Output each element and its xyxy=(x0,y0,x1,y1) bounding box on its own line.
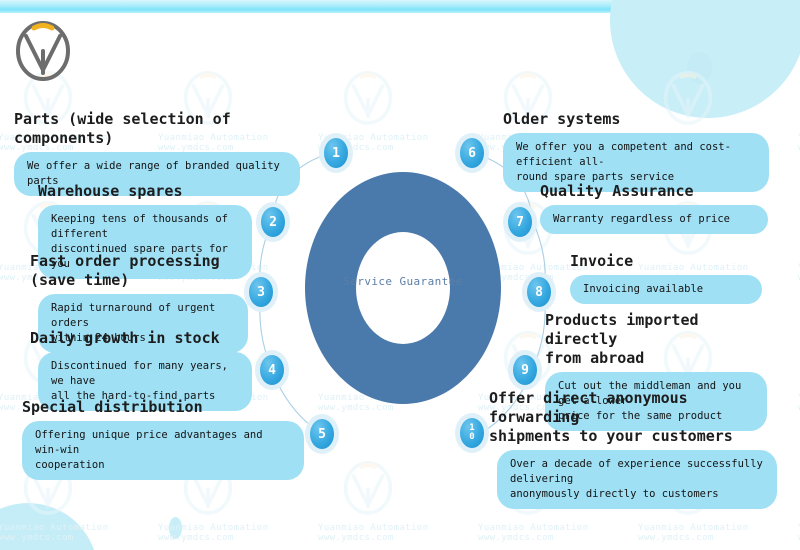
item-8: Invoice Invoicing available xyxy=(570,252,762,304)
item-6: Older systems We offer you a competent a… xyxy=(503,110,769,192)
step-badge-4[interactable]: 4 xyxy=(255,350,289,390)
center-label: Service Guarantee xyxy=(305,275,501,288)
item-10: Offer direct anonymous forwarding shipme… xyxy=(489,389,769,509)
item-7-heading: Quality Assurance xyxy=(540,182,768,201)
step-badge-8[interactable]: 8 xyxy=(522,272,556,312)
infographic-canvas: Yuanmiao Automationwww.ymdcs.comYuanmiao… xyxy=(0,0,800,550)
step-badge-7[interactable]: 7 xyxy=(503,202,537,242)
item-5-body: Offering unique price advantages and win… xyxy=(22,421,304,480)
item-10-body: Over a decade of experience successfully… xyxy=(497,450,777,509)
step-badge-5-number: 5 xyxy=(310,419,334,449)
item-6-heading: Older systems xyxy=(503,110,769,129)
item-4-heading: Daily growth in stock xyxy=(30,329,244,348)
item-8-body: Invoicing available xyxy=(570,275,762,304)
step-badge-3-number: 3 xyxy=(249,277,273,307)
item-2-heading: Warehouse spares xyxy=(38,182,252,201)
item-5: Special distribution Offering unique pri… xyxy=(22,398,304,480)
center-donut: Service Guarantee xyxy=(305,172,501,404)
step-badge-7-number: 7 xyxy=(508,207,532,237)
step-badge-9[interactable]: 9 xyxy=(508,350,542,390)
step-badge-2-number: 2 xyxy=(261,207,285,237)
step-badge-10[interactable]: 10 xyxy=(455,413,489,453)
step-badge-4-number: 4 xyxy=(260,355,284,385)
item-5-heading: Special distribution xyxy=(22,398,304,417)
item-10-heading: Offer direct anonymous forwarding shipme… xyxy=(489,389,769,446)
step-badge-9-number: 9 xyxy=(513,355,537,385)
step-badge-6[interactable]: 6 xyxy=(455,133,489,173)
step-badge-5[interactable]: 5 xyxy=(305,414,339,454)
step-badge-6-number: 6 xyxy=(460,138,484,168)
item-3-heading: Fast order processing (save time) xyxy=(30,252,240,290)
item-9-heading: Products imported directly from abroad xyxy=(545,311,767,368)
step-badge-1[interactable]: 1 xyxy=(319,133,353,173)
step-badge-8-number: 8 xyxy=(527,277,551,307)
step-badge-1-number: 1 xyxy=(324,138,348,168)
item-1-heading: Parts (wide selection of components) xyxy=(14,110,300,148)
step-badge-10-number: 10 xyxy=(460,418,484,448)
donut-hole xyxy=(356,232,450,344)
step-badge-2[interactable]: 2 xyxy=(256,202,290,242)
item-7: Quality Assurance Warranty regardless of… xyxy=(540,182,768,234)
item-8-heading: Invoice xyxy=(570,252,762,271)
item-7-body: Warranty regardless of price xyxy=(540,205,768,234)
